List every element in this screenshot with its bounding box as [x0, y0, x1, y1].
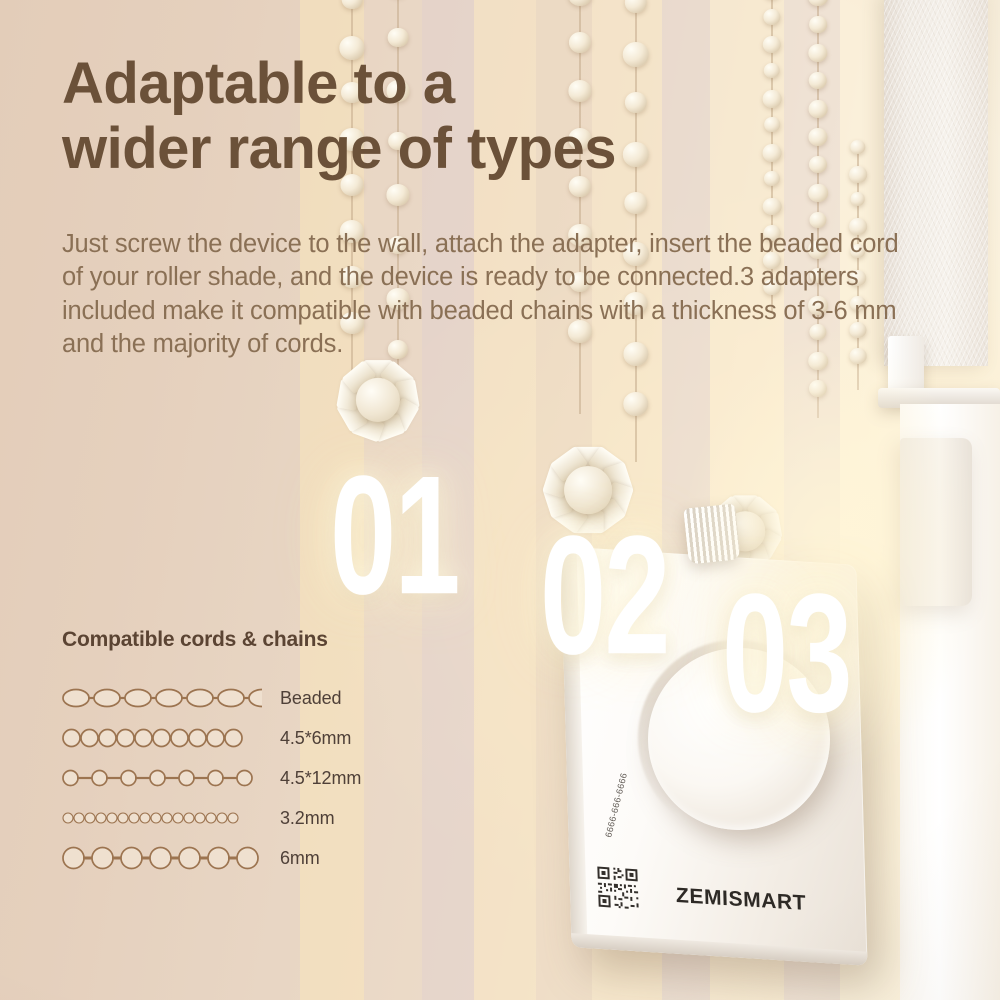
chain-bead [388, 28, 409, 47]
page-title: Adaptable to a wider range of types [62, 52, 742, 182]
chain-diagram-large-round [62, 845, 262, 871]
cord-socket [683, 503, 741, 564]
chain-bead [809, 16, 827, 33]
step-number-03: 03 [722, 570, 851, 739]
body-copy: Just screw the device to the wall, attac… [62, 228, 924, 362]
compatibility-label: 3.2mm [280, 808, 335, 829]
chain-bead [809, 100, 828, 118]
chain-diagram-spaced-round [62, 765, 262, 791]
product-banner: 6666-666-6666 ZEMISMART Adaptable to a w… [0, 0, 1000, 1000]
chain-bead [623, 392, 648, 416]
step-number-01: 01 [330, 452, 459, 621]
chain-bead [763, 144, 782, 162]
chain-diagram-tiny-round [62, 805, 262, 831]
chain-bead [851, 192, 865, 206]
compatibility-row: 4.5*6mm [62, 718, 392, 758]
chain-bead [764, 171, 780, 186]
chain-bead [763, 198, 782, 215]
compatibility-row: Beaded [62, 678, 392, 718]
adapter-sprocket-1 [330, 352, 426, 448]
chain-bead [809, 380, 827, 397]
chain-bead [808, 184, 828, 202]
step-number-02: 02 [540, 512, 669, 681]
chain-diagram-oval-link [62, 685, 262, 711]
headline-line-2: wider range of types [62, 117, 742, 182]
compatibility-row: 6mm [62, 838, 392, 878]
compatibility-row: 4.5*12mm [62, 758, 392, 798]
compatibility-label: Beaded [280, 688, 341, 709]
compatibility-title: Compatible cords & chains [62, 628, 392, 652]
headline-line-1: Adaptable to a [62, 52, 742, 117]
compatibility-panel: Compatible cords & chains Beaded4.5*6mm4… [62, 628, 392, 878]
sprocket-hub [356, 378, 400, 422]
chain-bead [849, 166, 867, 183]
chain-bead [386, 184, 409, 206]
chain-bead [809, 212, 826, 228]
chain-bead [809, 156, 827, 173]
compatibility-label: 4.5*12mm [280, 768, 361, 789]
compatibility-label: 4.5*6mm [280, 728, 351, 749]
chain-bead [764, 117, 780, 132]
wall-light-panel [900, 438, 972, 606]
chain-bead [763, 90, 782, 108]
chain-bead [808, 128, 827, 146]
qr-code-icon [595, 864, 641, 911]
compatibility-label: 6mm [280, 848, 320, 869]
chain-bead [569, 32, 591, 53]
compatibility-rows: Beaded4.5*6mm4.5*12mm3.2mm6mm [62, 678, 392, 878]
compatibility-row: 3.2mm [62, 798, 392, 838]
chain-diagram-touching-round [62, 725, 262, 751]
